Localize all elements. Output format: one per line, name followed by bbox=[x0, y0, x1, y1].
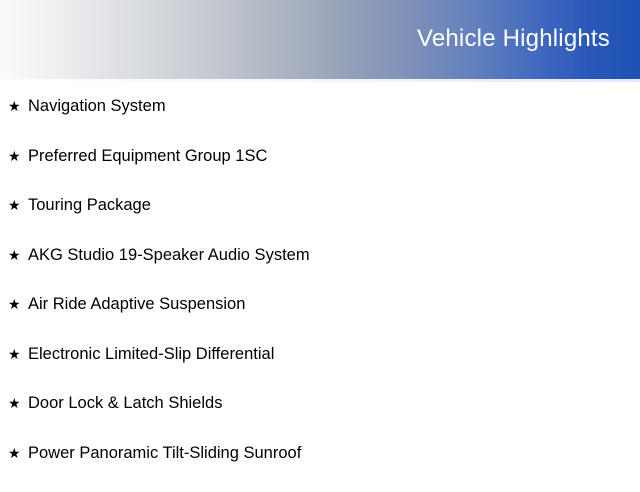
list-item: ★ Preferred Equipment Group 1SC bbox=[0, 146, 640, 196]
list-item-label: Navigation System bbox=[28, 96, 166, 116]
list-item-label: Preferred Equipment Group 1SC bbox=[28, 146, 267, 166]
list-item-label: Touring Package bbox=[28, 195, 151, 215]
vehicle-highlights-list: ★ Navigation System ★ Preferred Equipmen… bbox=[0, 96, 640, 492]
list-item: ★ Door Lock & Latch Shields bbox=[0, 393, 640, 443]
star-icon: ★ bbox=[8, 146, 28, 166]
page-title: Vehicle Highlights bbox=[417, 24, 610, 54]
list-item: ★ AKG Studio 19-Speaker Audio System bbox=[0, 245, 640, 295]
star-icon: ★ bbox=[8, 443, 28, 463]
star-icon: ★ bbox=[8, 245, 28, 265]
list-item-label: Electronic Limited-Slip Differential bbox=[28, 344, 274, 364]
list-item-label: Door Lock & Latch Shields bbox=[28, 393, 222, 413]
vehicle-highlights-slide: Vehicle Highlights ★ Navigation System ★… bbox=[0, 0, 640, 480]
list-item: ★ Touring Package bbox=[0, 195, 640, 245]
list-item: ★ Power Panoramic Tilt-Sliding Sunroof bbox=[0, 443, 640, 492]
list-item-label: Air Ride Adaptive Suspension bbox=[28, 294, 245, 314]
star-icon: ★ bbox=[8, 195, 28, 215]
list-item-label: AKG Studio 19-Speaker Audio System bbox=[28, 245, 310, 265]
list-item: ★ Navigation System bbox=[0, 96, 640, 146]
list-item: ★ Electronic Limited-Slip Differential bbox=[0, 344, 640, 394]
star-icon: ★ bbox=[8, 96, 28, 116]
star-icon: ★ bbox=[8, 393, 28, 413]
header-divider bbox=[0, 79, 640, 82]
list-item-label: Power Panoramic Tilt-Sliding Sunroof bbox=[28, 443, 301, 463]
star-icon: ★ bbox=[8, 294, 28, 314]
list-item: ★ Air Ride Adaptive Suspension bbox=[0, 294, 640, 344]
star-icon: ★ bbox=[8, 344, 28, 364]
header-banner: Vehicle Highlights bbox=[0, 0, 640, 79]
